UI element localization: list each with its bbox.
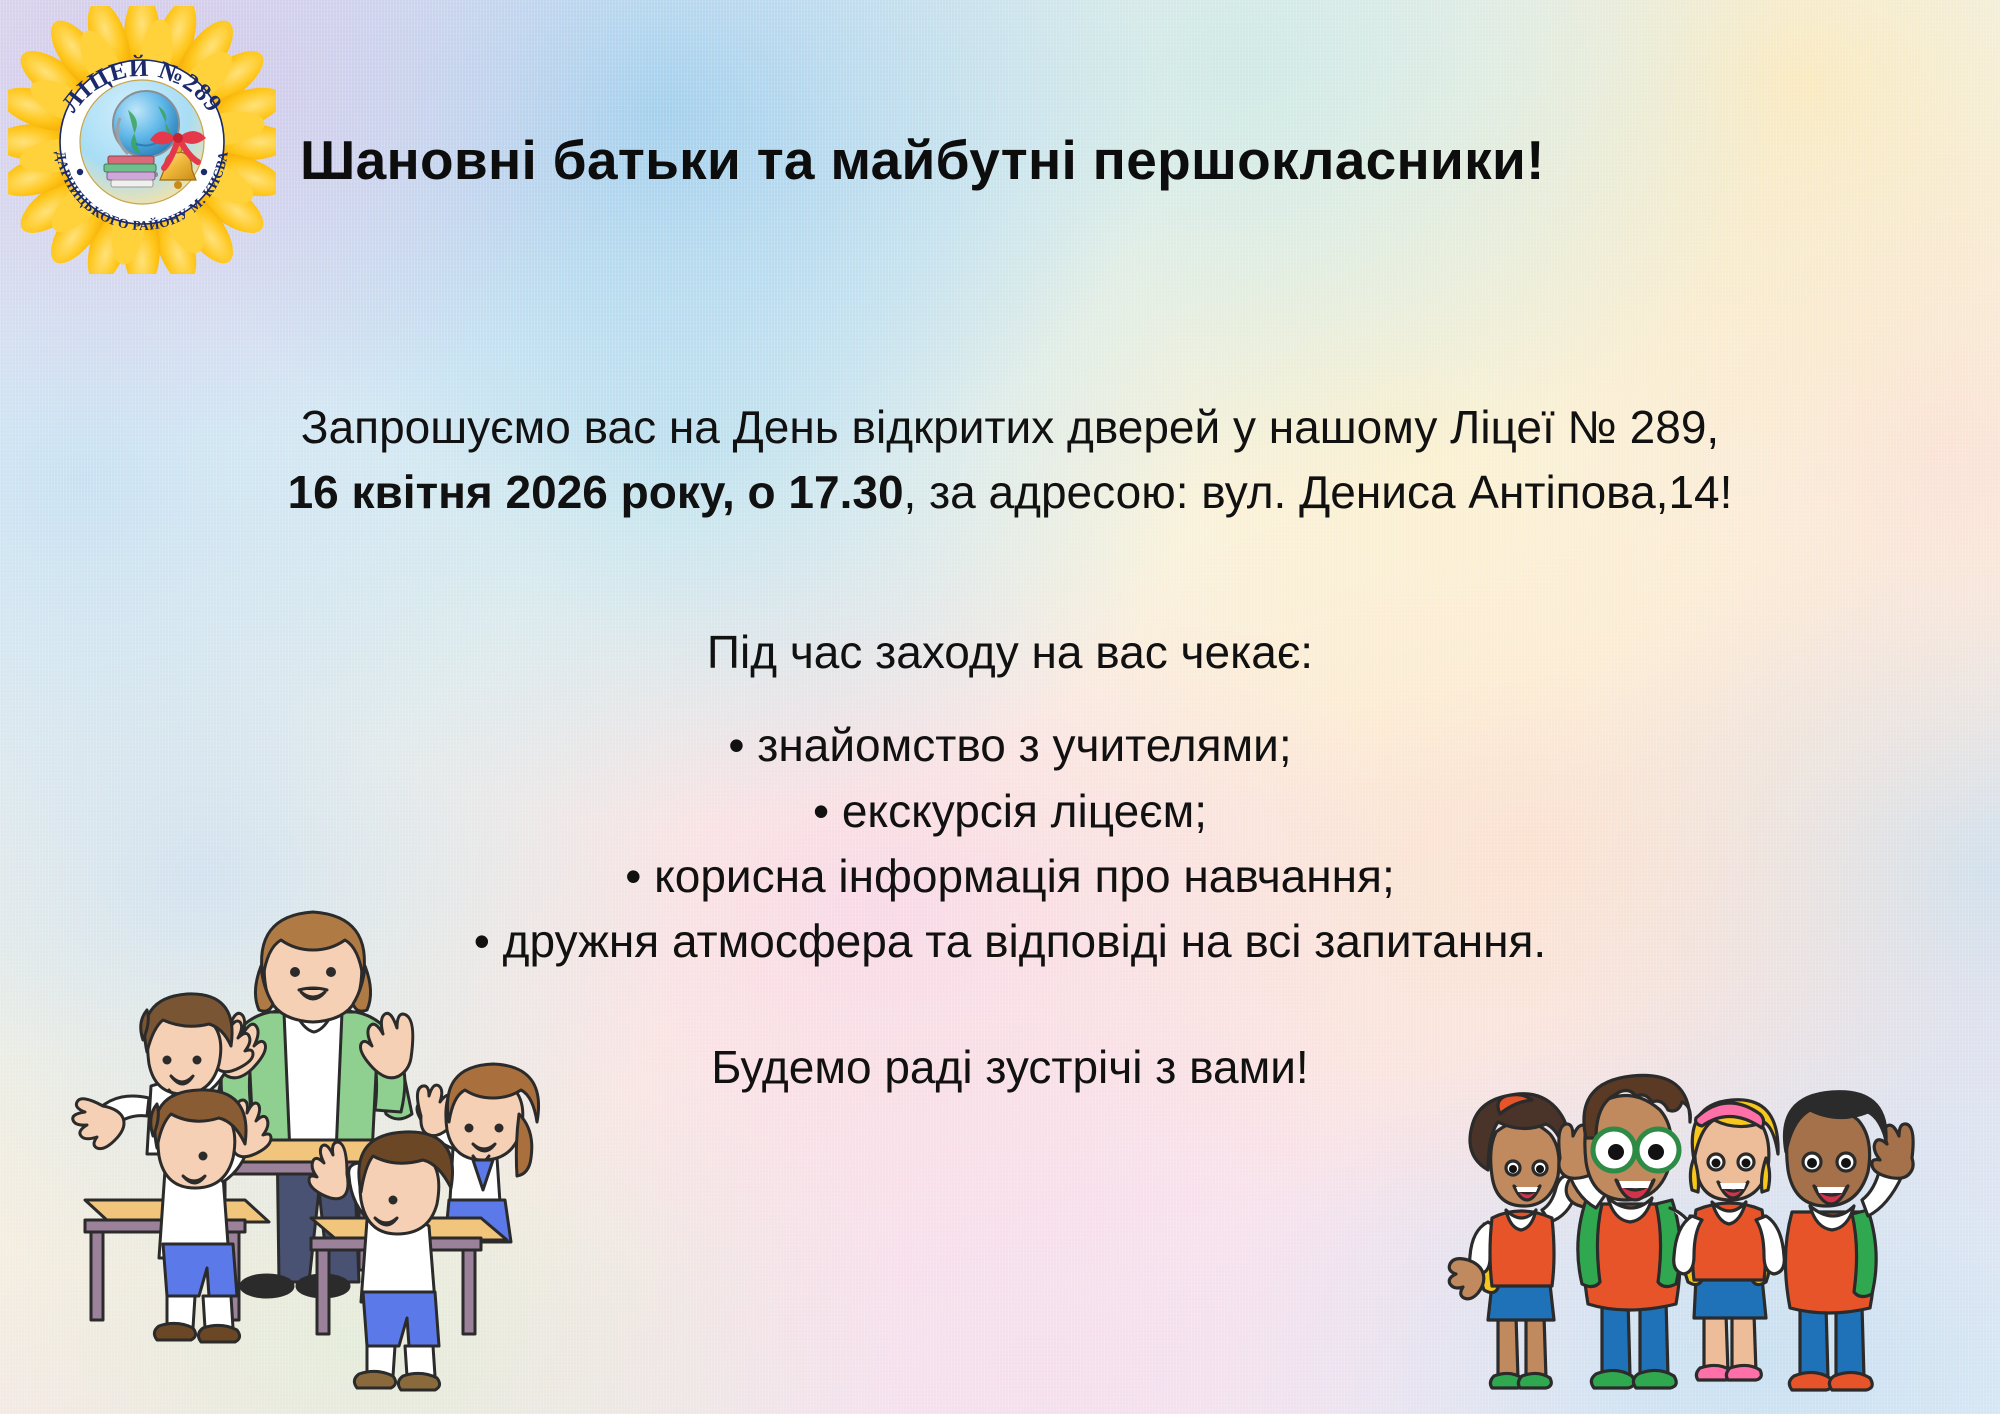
agenda-item: • знайомство з учителями; [160, 713, 1860, 778]
classroom-illustration [55, 900, 555, 1410]
intro-line-2: 16 квітня 2026 року, о 17.30, за адресою… [160, 460, 1860, 525]
agenda-item: • екскурсія ліцеєм; [160, 779, 1860, 844]
page-title: Шановні батьки та майбутні першокласники… [300, 130, 1800, 191]
child-boy-glasses [1559, 1075, 1694, 1388]
intro-line-1: Запрошуємо вас на День відкритих дверей … [160, 395, 1860, 460]
event-datetime: 16 квітня 2026 року, о 17.30 [288, 466, 904, 518]
schoolchildren-illustration [1400, 1010, 1980, 1414]
books-icon [104, 156, 156, 187]
event-address: , за адресою: вул. Дениса Антіпова,14! [904, 466, 1733, 518]
poster-canvas: ЛІЦЕЙ №289 ДАРНИЦЬКОГО РАЙОНУ М. КИЄВА Ш… [0, 0, 2000, 1414]
child-girl-blonde [1674, 1100, 1785, 1380]
intro-paragraph: Запрошуємо вас на День відкритих дверей … [160, 395, 1860, 526]
child-boy-waving [1784, 1092, 1913, 1390]
agenda-lead: Під час заходу на вас чекає: [160, 620, 1860, 685]
school-logo: ЛІЦЕЙ №289 ДАРНИЦЬКОГО РАЙОНУ М. КИЄВА [8, 6, 276, 274]
